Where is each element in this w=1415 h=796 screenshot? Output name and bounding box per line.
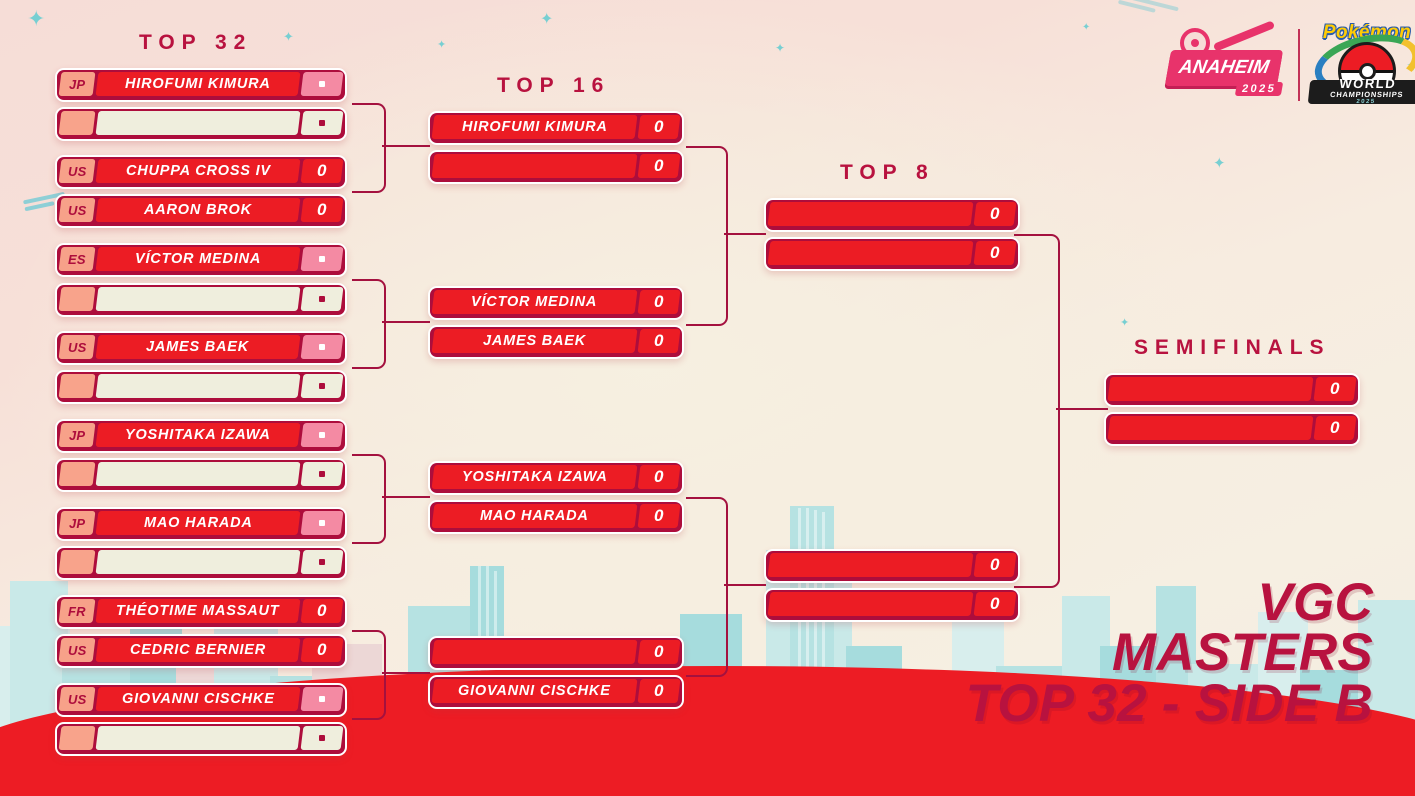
- anaheim-year: 2025: [1235, 82, 1284, 96]
- title-line-1: VGC: [966, 578, 1373, 628]
- score-box: 0: [638, 504, 681, 528]
- score-box: [301, 726, 344, 750]
- title-line-3: TOP 32 - SIDE B: [966, 679, 1373, 729]
- player-name: VÍCTOR MEDINA: [96, 247, 301, 271]
- flag-badge: US: [59, 159, 96, 183]
- connector-line-top16-m1: [724, 233, 766, 235]
- flag-badge: [59, 111, 96, 135]
- player-name: MAO HARADA: [432, 504, 638, 528]
- player-name: [96, 374, 301, 398]
- player-name: [1108, 416, 1314, 440]
- flag-badge: US: [59, 335, 96, 359]
- score-box: 0: [638, 640, 681, 664]
- flag-badge: JP: [59, 72, 96, 96]
- logo-divider: [1298, 29, 1300, 101]
- anaheim-label: ANAHEIM: [1165, 50, 1283, 86]
- match-row[interactable]: [55, 107, 347, 141]
- score-box: 0: [974, 553, 1017, 577]
- connector-top16-m1: [686, 146, 728, 326]
- player-name: [768, 241, 974, 265]
- anaheim-logo: ANAHEIM 2025: [1168, 26, 1286, 104]
- sparkle-icon: ✦: [775, 42, 785, 54]
- player-name: [96, 287, 301, 311]
- score-box: [301, 72, 344, 96]
- connector-line-top8-m1: [1056, 408, 1108, 410]
- connector-top32-m2: [352, 279, 386, 369]
- score-box: 0: [301, 638, 344, 662]
- player-name: [96, 550, 301, 574]
- score-box: 0: [301, 599, 344, 623]
- connector-line-top32-m1: [382, 145, 430, 147]
- player-name: GIOVANNI CISCHKE: [432, 679, 638, 703]
- connector-top32-m3: [352, 454, 386, 544]
- sparkle-icon: ✦: [437, 40, 446, 51]
- match-row[interactable]: JP MAO HARADA: [55, 507, 347, 541]
- sparkle-icon: ✦: [283, 30, 294, 43]
- flag-badge: [59, 374, 96, 398]
- player-name: YOSHITAKA IZAWA: [432, 465, 638, 489]
- player-name: [432, 640, 638, 664]
- score-box: 0: [301, 198, 344, 222]
- score-box: 0: [638, 154, 681, 178]
- match-row[interactable]: ES VÍCTOR MEDINA: [55, 243, 347, 277]
- flag-badge: JP: [59, 511, 96, 535]
- connector-line-top16-m2: [724, 584, 766, 586]
- match-row[interactable]: [55, 722, 347, 756]
- match-row[interactable]: [55, 370, 347, 404]
- score-box: 0: [974, 202, 1017, 226]
- flag-badge: [59, 287, 96, 311]
- match-row[interactable]: 0: [428, 150, 684, 184]
- player-name: VÍCTOR MEDINA: [432, 290, 638, 314]
- connector-line-top32-m4: [382, 672, 430, 674]
- score-box: [301, 511, 344, 535]
- match-row[interactable]: US JAMES BAEK: [55, 331, 347, 365]
- match-row[interactable]: VÍCTOR MEDINA 0: [428, 286, 684, 320]
- event-logos: ANAHEIM 2025 Pokémon WORLD CHAMPIONSHIPS…: [1168, 22, 1415, 108]
- match-row[interactable]: US GIOVANNI CISCHKE: [55, 683, 347, 717]
- round-heading-top8: TOP 8: [840, 161, 935, 185]
- connector-top16-m2: [686, 497, 728, 677]
- score-box: [301, 687, 344, 711]
- player-name: CEDRIC BERNIER: [96, 638, 301, 662]
- player-name: [96, 111, 301, 135]
- player-name: CHUPPA CROSS IV: [96, 159, 301, 183]
- worlds-band: WORLD CHAMPIONSHIPS 2025: [1308, 80, 1415, 104]
- player-name: JAMES BAEK: [432, 329, 638, 353]
- flag-badge: US: [59, 638, 96, 662]
- round-heading-semifinals: SEMIFINALS: [1134, 336, 1330, 360]
- match-row[interactable]: FR THÉOTIME MASSAUT 0: [55, 595, 347, 629]
- flag-badge: [59, 462, 96, 486]
- score-box: 0: [638, 465, 681, 489]
- player-name: GIOVANNI CISCHKE: [96, 687, 301, 711]
- score-box: [301, 374, 344, 398]
- player-name: [768, 553, 974, 577]
- player-name: THÉOTIME MASSAUT: [96, 599, 301, 623]
- player-name: HIROFUMI KIMURA: [432, 115, 638, 139]
- match-row[interactable]: [55, 458, 347, 492]
- flag-badge: [59, 550, 96, 574]
- match-row[interactable]: HIROFUMI KIMURA 0: [428, 111, 684, 145]
- score-box: 0: [638, 329, 681, 353]
- flag-badge: [59, 726, 96, 750]
- title-line-2: MASTERS: [966, 628, 1373, 678]
- match-row[interactable]: GIOVANNI CISCHKE 0: [428, 675, 684, 709]
- score-box: 0: [638, 679, 681, 703]
- sparkle-icon: ✦: [540, 12, 553, 28]
- player-name: [96, 462, 301, 486]
- player-name: [768, 202, 974, 226]
- player-name: JAMES BAEK: [96, 335, 301, 359]
- match-row[interactable]: MAO HARADA 0: [428, 500, 684, 534]
- match-row[interactable]: [55, 283, 347, 317]
- connector-top32-m1: [352, 103, 386, 193]
- event-title-block: VGC MASTERS TOP 32 - SIDE B: [966, 578, 1373, 729]
- score-box: [301, 335, 344, 359]
- player-name: [768, 592, 974, 616]
- score-box: [301, 247, 344, 271]
- score-box: [301, 111, 344, 135]
- player-name: [432, 154, 638, 178]
- worlds-logo: Pokémon WORLD CHAMPIONSHIPS 2025: [1312, 22, 1415, 108]
- player-name: MAO HARADA: [96, 511, 301, 535]
- score-box: 0: [638, 290, 681, 314]
- connector-line-top32-m3: [382, 496, 430, 498]
- match-row[interactable]: 0: [764, 198, 1020, 232]
- match-row[interactable]: US AARON BROK 0: [55, 194, 347, 228]
- worlds-line3: 2025: [1356, 99, 1376, 106]
- score-box: 0: [301, 159, 344, 183]
- match-row[interactable]: JAMES BAEK 0: [428, 325, 684, 359]
- connector-top32-m4: [352, 630, 386, 720]
- worlds-line1: WORLD: [1339, 78, 1397, 90]
- score-box: 0: [974, 241, 1017, 265]
- worlds-line2: CHAMPIONSHIPS: [1330, 90, 1404, 99]
- match-row[interactable]: JP YOSHITAKA IZAWA: [55, 419, 347, 453]
- match-row[interactable]: JP HIROFUMI KIMURA: [55, 68, 347, 102]
- flag-badge: FR: [59, 599, 96, 623]
- score-box: [301, 287, 344, 311]
- sparkle-icon: ✦: [1120, 318, 1129, 329]
- round-heading-top32: TOP 32: [139, 31, 252, 55]
- match-row[interactable]: US CEDRIC BERNIER 0: [55, 634, 347, 668]
- flag-badge: JP: [59, 423, 96, 447]
- score-box: 0: [1314, 377, 1357, 401]
- score-box: [301, 462, 344, 486]
- sparkle-icon: ✦: [27, 8, 45, 30]
- flag-badge: US: [59, 198, 96, 222]
- round-heading-top16: TOP 16: [497, 74, 610, 98]
- match-row[interactable]: [55, 546, 347, 580]
- player-name: HIROFUMI KIMURA: [96, 72, 301, 96]
- connector-line-top32-m2: [382, 321, 430, 323]
- sparkle-icon: ✦: [1082, 23, 1090, 33]
- score-box: [301, 550, 344, 574]
- bracket-screen: ✦ ✦ ✦ ✦ ✦ ✦ ✦ ✦ ✦ TOP 32 TOP 16 TOP 8 SE…: [0, 0, 1415, 796]
- match-row[interactable]: 0: [1104, 373, 1360, 407]
- player-name: AARON BROK: [96, 198, 301, 222]
- match-row[interactable]: 0: [1104, 412, 1360, 446]
- match-row[interactable]: 0: [764, 237, 1020, 271]
- player-name: [1108, 377, 1314, 401]
- player-name: YOSHITAKA IZAWA: [96, 423, 301, 447]
- score-box: 0: [1314, 416, 1357, 440]
- flag-badge: US: [59, 687, 96, 711]
- match-row[interactable]: US CHUPPA CROSS IV 0: [55, 155, 347, 189]
- connector-top8-m1: [1014, 234, 1060, 588]
- swoosh-icon: [1213, 20, 1275, 51]
- sparkle-icon: ✦: [1213, 156, 1226, 171]
- score-box: 0: [638, 115, 681, 139]
- match-row[interactable]: YOSHITAKA IZAWA 0: [428, 461, 684, 495]
- player-name: [96, 726, 301, 750]
- score-box: [301, 423, 344, 447]
- flag-badge: ES: [59, 247, 96, 271]
- match-row[interactable]: 0: [428, 636, 684, 670]
